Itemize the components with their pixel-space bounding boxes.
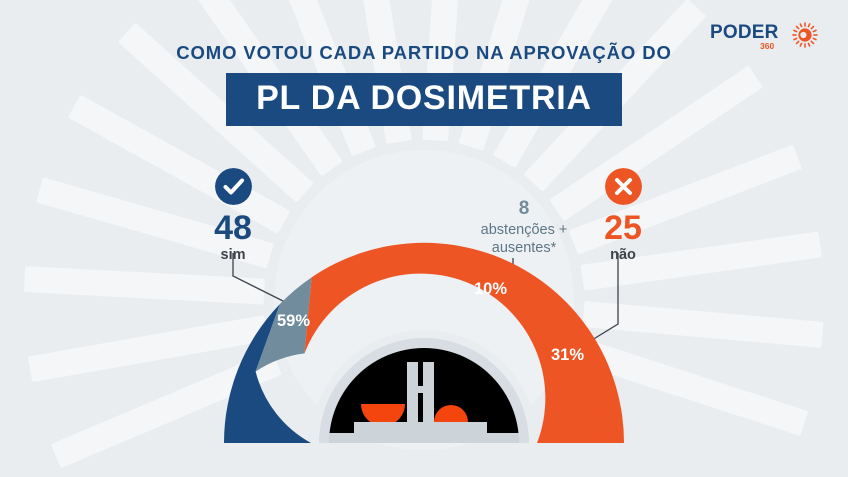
sunburst-icon bbox=[792, 22, 817, 47]
x-circle-icon bbox=[605, 168, 642, 205]
percent-label-abstencoes: 10% bbox=[474, 281, 507, 298]
callout-sim-count: 48 bbox=[188, 211, 278, 245]
callout-sim-label: sim bbox=[188, 247, 278, 263]
title-bar: PL DA DOSIMETRIA bbox=[226, 73, 622, 126]
poder360-logo[interactable]: PODER 360 bbox=[710, 16, 828, 56]
callout-abstencoes-label-line1: abstenções + bbox=[448, 222, 600, 240]
check-circle-icon bbox=[215, 168, 252, 205]
percent-label-sim: 59% bbox=[277, 313, 310, 330]
header: COMO VOTOU CADA PARTIDO NA APROVAÇÃO DO … bbox=[0, 44, 848, 126]
callout-abstencoes: 8 abstenções + ausentes* bbox=[448, 199, 600, 258]
page-title: PL DA DOSIMETRIA bbox=[256, 81, 592, 115]
callout-abstencoes-count: 8 bbox=[448, 199, 600, 218]
callout-abstencoes-label-line2: ausentes* bbox=[448, 240, 600, 258]
callout-sim: 48 sim bbox=[188, 168, 278, 263]
logo-suffix: 360 bbox=[760, 41, 774, 51]
leader-line-nao bbox=[592, 253, 618, 340]
center-medallion bbox=[311, 330, 537, 443]
percent-label-nao: 31% bbox=[551, 347, 584, 364]
logo-wordmark: PODER bbox=[710, 22, 779, 43]
infographic-canvas: COMO VOTOU CADA PARTIDO NA APROVAÇÃO DO … bbox=[0, 0, 848, 477]
